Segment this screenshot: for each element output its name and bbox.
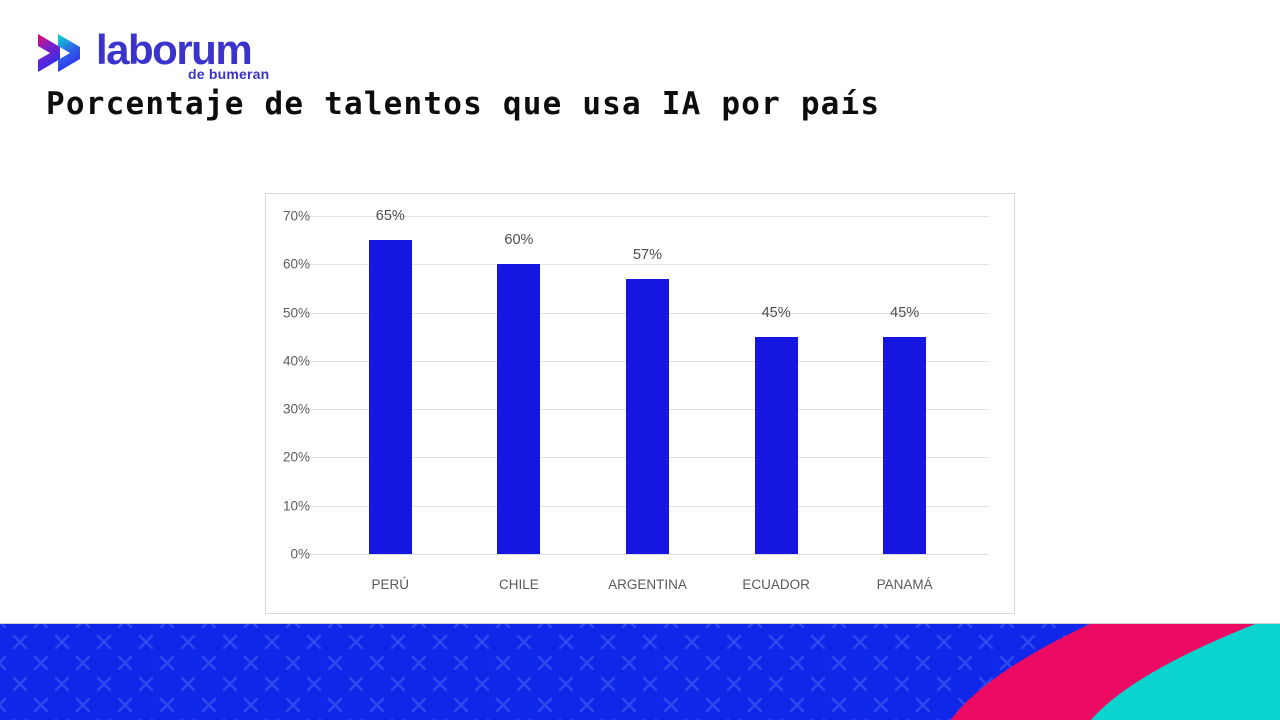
bars-container: 65%60%57%45%45% (326, 216, 969, 554)
y-tick-label: 70% (283, 209, 310, 224)
y-tick-label: 20% (283, 450, 310, 465)
x-axis-label: PANAMÁ (840, 577, 969, 599)
bar-column[interactable]: 57% (583, 216, 712, 554)
x-axis-labels: PERÚCHILEARGENTINAECUADORPANAMÁ (326, 577, 969, 599)
x-axis-label: ARGENTINA (583, 577, 712, 599)
bar[interactable] (626, 279, 669, 554)
gridline (306, 554, 989, 555)
bar-value-label: 60% (504, 232, 533, 248)
laborum-chevron-icon (34, 28, 90, 78)
bar-value-label: 65% (376, 208, 405, 224)
y-axis-ticks: 70%60%50%40%30%20%10%0% (266, 194, 316, 613)
bar[interactable] (369, 240, 412, 554)
bar[interactable] (755, 337, 798, 554)
y-tick-label: 60% (283, 257, 310, 272)
x-axis-label: CHILE (455, 577, 584, 599)
x-axis-label: ECUADOR (712, 577, 841, 599)
page-title: Porcentaje de talentos que usa IA por pa… (46, 86, 880, 122)
bar-chart: 70%60%50%40%30%20%10%0% 65%60%57%45%45% … (265, 193, 1015, 614)
y-tick-label: 50% (283, 305, 310, 320)
y-tick-label: 40% (283, 353, 310, 368)
y-tick-label: 0% (290, 547, 310, 562)
laborum-wordmark: laborum de bumeran (96, 24, 286, 82)
cross-pattern (0, 624, 1090, 720)
bar-column[interactable]: 45% (712, 216, 841, 554)
bar-value-label: 57% (633, 247, 662, 263)
bar[interactable] (497, 264, 540, 554)
bar-value-label: 45% (762, 305, 791, 321)
x-axis-label: PERÚ (326, 577, 455, 599)
bar-column[interactable]: 65% (326, 216, 455, 554)
plot-area: 70%60%50%40%30%20%10%0% 65%60%57%45%45% … (266, 194, 1014, 613)
slide: laborum de bumeran Porcentaje de talento… (0, 0, 1280, 720)
bar-value-label: 45% (890, 305, 919, 321)
svg-text:de bumeran: de bumeran (188, 66, 269, 82)
bar-column[interactable]: 60% (455, 216, 584, 554)
y-tick-label: 30% (283, 402, 310, 417)
laborum-logo: laborum de bumeran (34, 26, 286, 82)
bar[interactable] (883, 337, 926, 554)
footer-band (0, 623, 1280, 720)
bar-column[interactable]: 45% (840, 216, 969, 554)
y-tick-label: 10% (283, 498, 310, 513)
